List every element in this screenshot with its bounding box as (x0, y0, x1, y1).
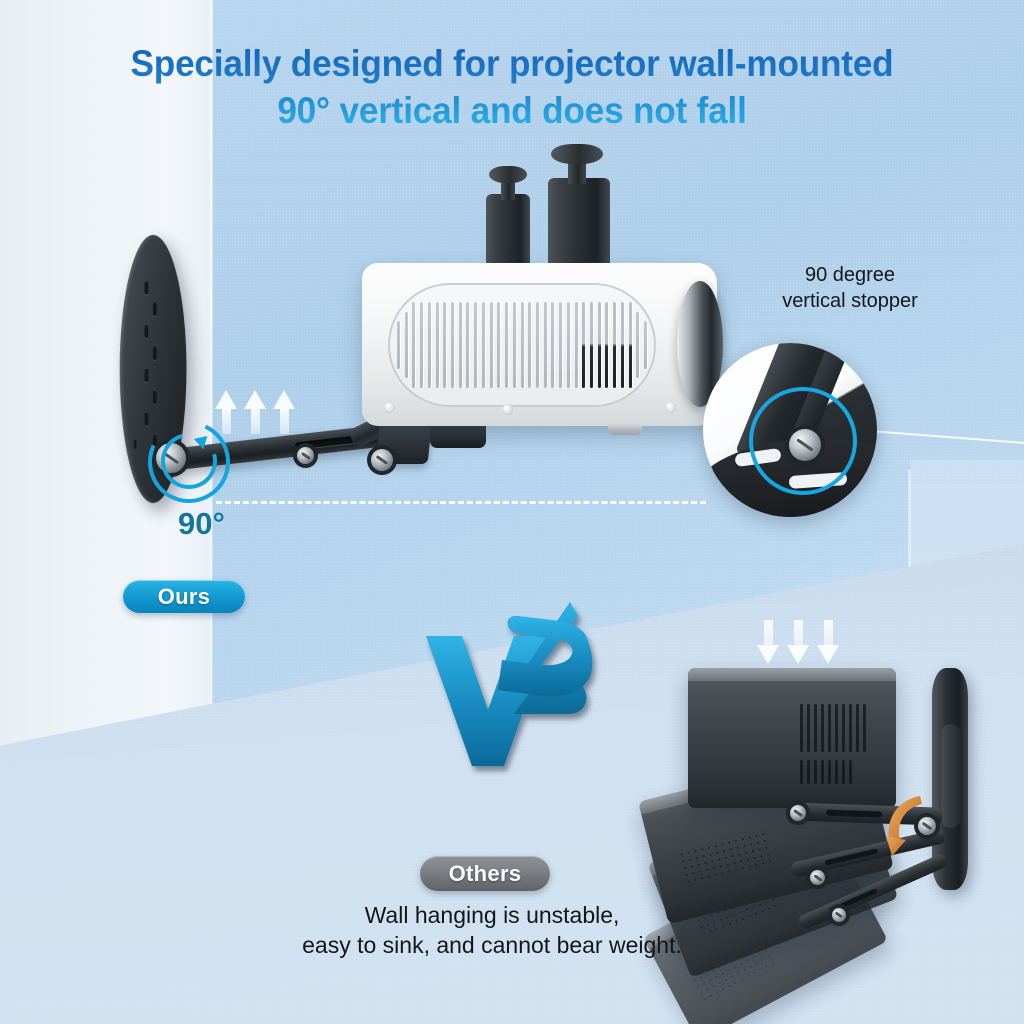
badge-others[interactable]: Others (420, 856, 550, 891)
plate-screw-holes (145, 280, 160, 401)
badge-ours-label: Ours (158, 584, 211, 610)
others-caption-line-1: Wall hanging is unstable, (365, 902, 620, 928)
others-plate-face (941, 724, 961, 828)
headline-line-1: Specially designed for projector wall-mo… (131, 43, 894, 84)
white-projector (362, 263, 717, 426)
inset-highlight-ring (749, 387, 857, 495)
force-arrow-up-2 (244, 390, 266, 434)
others-screw-1 (790, 805, 806, 821)
callout-line-2: vertical stopper (782, 290, 918, 312)
pivot-screw-mid (297, 447, 314, 464)
weight-small-cap (489, 166, 527, 183)
others-vent-bottom (800, 760, 852, 784)
force-arrow-down-1 (757, 620, 779, 664)
force-arrow-down-3 (817, 620, 839, 664)
page-title: Specially designed for projector wall-mo… (26, 40, 999, 135)
horizontal-reference-line (216, 501, 706, 504)
others-screw-2 (810, 870, 825, 885)
projector-screw-3 (665, 402, 676, 413)
vs-graphic (418, 598, 593, 770)
pivot-screw-bracket (371, 449, 393, 471)
badge-others-label: Others (449, 861, 522, 887)
callout-label: 90 degree vertical stopper (760, 262, 940, 314)
others-projector-main (688, 668, 896, 808)
others-vent-top (800, 704, 866, 752)
force-arrow-down-2 (787, 620, 809, 664)
others-rotation-arrow (880, 790, 942, 874)
weight-large-cap (551, 144, 603, 164)
projector-foot (608, 424, 642, 435)
headline-line-2: 90° vertical and does not fall (26, 87, 999, 134)
others-caption-line-2: easy to sink, and cannot bear weight. (302, 932, 682, 958)
others-caption: Wall hanging is unstable, easy to sink, … (232, 900, 752, 961)
projector-vent-grille (388, 283, 656, 407)
projector-screw-1 (384, 402, 395, 413)
projector-screw-2 (502, 404, 513, 415)
others-screw-3 (832, 908, 846, 922)
magnifier-inset (703, 343, 877, 517)
force-arrow-up-1 (215, 390, 237, 434)
plate-dot-left (134, 440, 137, 449)
angle-label: 90° (178, 506, 225, 542)
product-marketing-image: Specially designed for projector wall-mo… (0, 0, 1024, 1024)
force-arrow-up-3 (273, 390, 295, 434)
callout-line-1: 90 degree (805, 264, 895, 286)
badge-ours[interactable]: Ours (123, 580, 245, 613)
